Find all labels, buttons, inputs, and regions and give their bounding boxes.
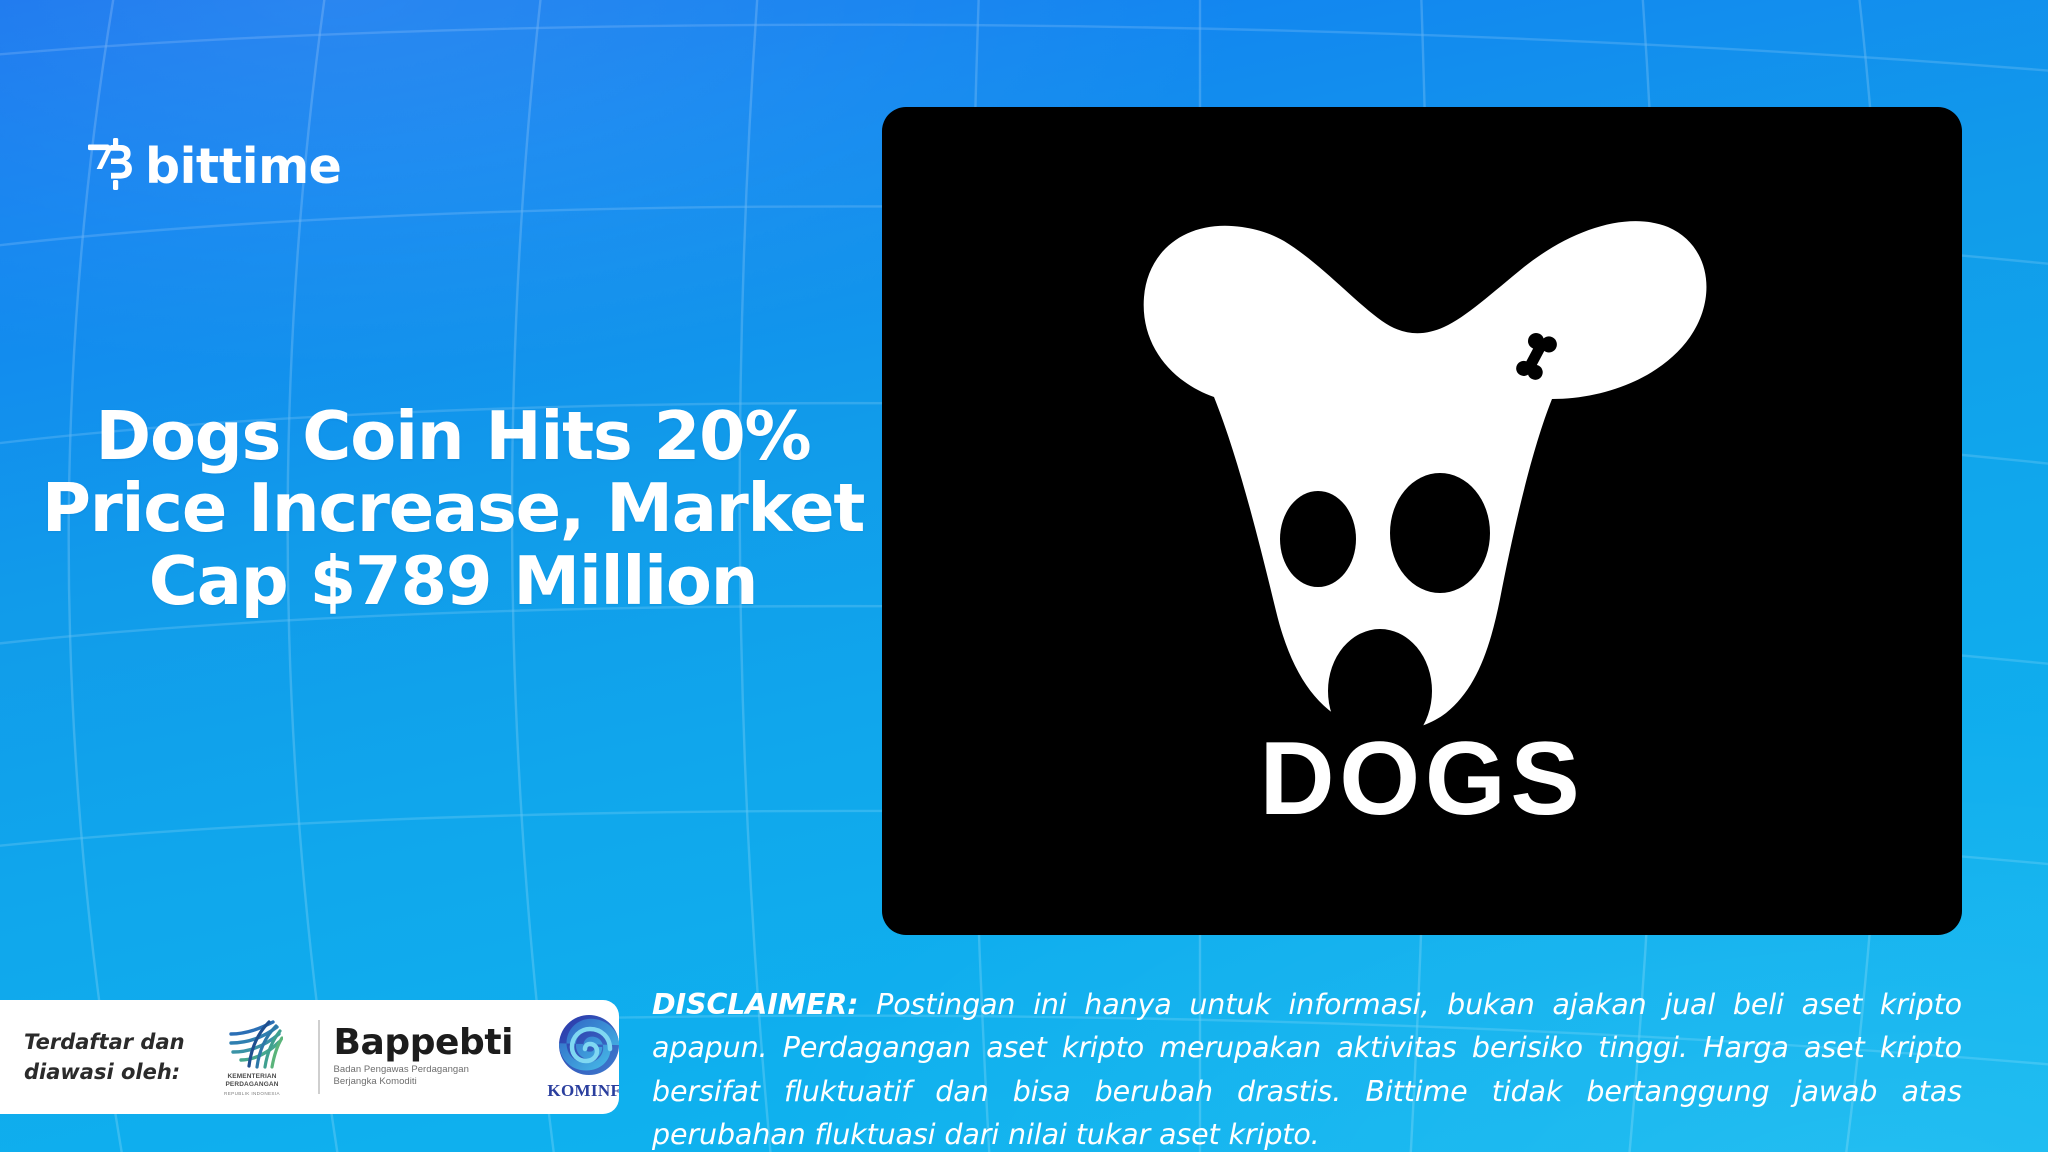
bappebti-name: Bappebti [334,1026,514,1061]
badge-caption: Terdaftar dan diawasi oleh: [24,1027,194,1088]
badge-kominfo: KOMINFO [535,1013,619,1101]
brand-name: bittime [145,142,341,191]
kemendag-name: KEMENTERIAN PERDAGANGAN [200,1073,304,1089]
kemendag-sub: REPUBLIK INDONESIA [224,1091,280,1096]
badge-kemendag: KEMENTERIAN PERDAGANGAN REPUBLIK INDONES… [200,1018,304,1097]
kominfo-wave-icon [555,1013,619,1079]
headline-title: Dogs Coin Hits 20% Price Increase, Marke… [40,400,866,617]
brand-logo[interactable]: bittime [88,136,341,192]
bitcoin-b-icon [88,138,132,190]
kominfo-name: KOMINFO [547,1081,619,1101]
disclaimer-text: DISCLAIMER: Postingan ini hanya untuk in… [652,983,1962,1152]
bappebti-sub: Badan Pengawas Perdagangan Berjangka Kom… [334,1064,494,1088]
badge-bappebti: Bappebti Badan Pengawas Perdagangan Berj… [334,1026,514,1088]
dogs-logo-card: DOGS [882,107,1962,935]
dogs-wordmark: DOGS [882,727,1962,831]
kemendag-leaf-icon [221,1018,283,1070]
disclaimer-label: DISCLAIMER: [652,988,858,1021]
regulator-badge-bar: Terdaftar dan diawasi oleh: KEMENTERIAN … [0,1000,619,1114]
badge-divider [318,1020,320,1094]
